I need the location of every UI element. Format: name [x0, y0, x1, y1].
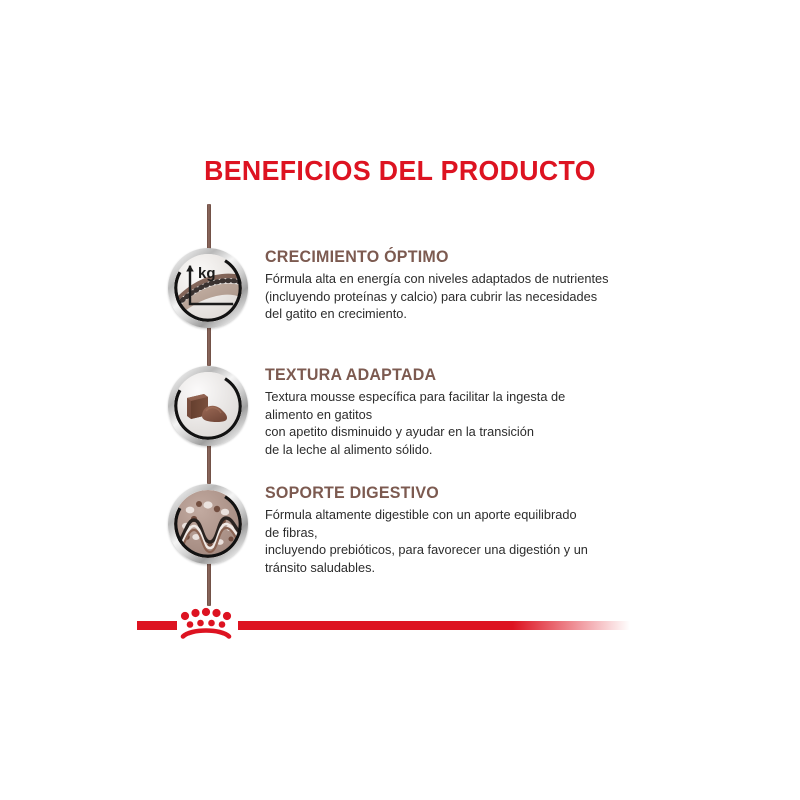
benefits-list: kg CRECIMIENTO ÓPTIMO Fórmula alta en en… — [0, 0, 800, 800]
benefit-body: Textura mousse específica para facilitar… — [265, 388, 655, 458]
royal-canin-crown-icon — [178, 607, 234, 643]
benefit-icon-medallion — [168, 366, 248, 446]
benefit-text-block: CRECIMIENTO ÓPTIMO Fórmula alta en energ… — [265, 248, 665, 323]
benefit-text-block: SOPORTE DIGESTIVO Fórmula altamente dige… — [265, 484, 665, 576]
timeline-connector-1 — [207, 326, 211, 366]
benefit-icon-medallion: kg — [168, 248, 248, 328]
benefit-body: Fórmula alta en energía con niveles adap… — [265, 270, 655, 323]
benefit-heading: TEXTURA ADAPTADA — [265, 366, 653, 385]
benefit-body: Fórmula altamente digestible con un apor… — [265, 506, 655, 576]
mousse-texture-icon — [174, 372, 242, 440]
footer-rule-right — [238, 621, 630, 630]
product-benefits-page: BENEFICIOS DEL PRODUCTO — [0, 0, 800, 800]
benefit-text-block: TEXTURA ADAPTADA Textura mousse específi… — [265, 366, 665, 458]
growth-weight-curve-icon: kg — [174, 254, 242, 322]
footer-rule-left — [137, 621, 177, 630]
digestive-support-icon — [174, 490, 242, 558]
timeline-connector-bottom — [207, 560, 211, 606]
benefit-icon-medallion — [168, 484, 248, 564]
timeline-connector-2 — [207, 444, 211, 484]
svg-text:kg: kg — [198, 265, 216, 282]
benefit-heading: SOPORTE DIGESTIVO — [265, 484, 653, 503]
benefit-heading: CRECIMIENTO ÓPTIMO — [265, 248, 653, 267]
timeline-connector-top — [207, 204, 211, 252]
